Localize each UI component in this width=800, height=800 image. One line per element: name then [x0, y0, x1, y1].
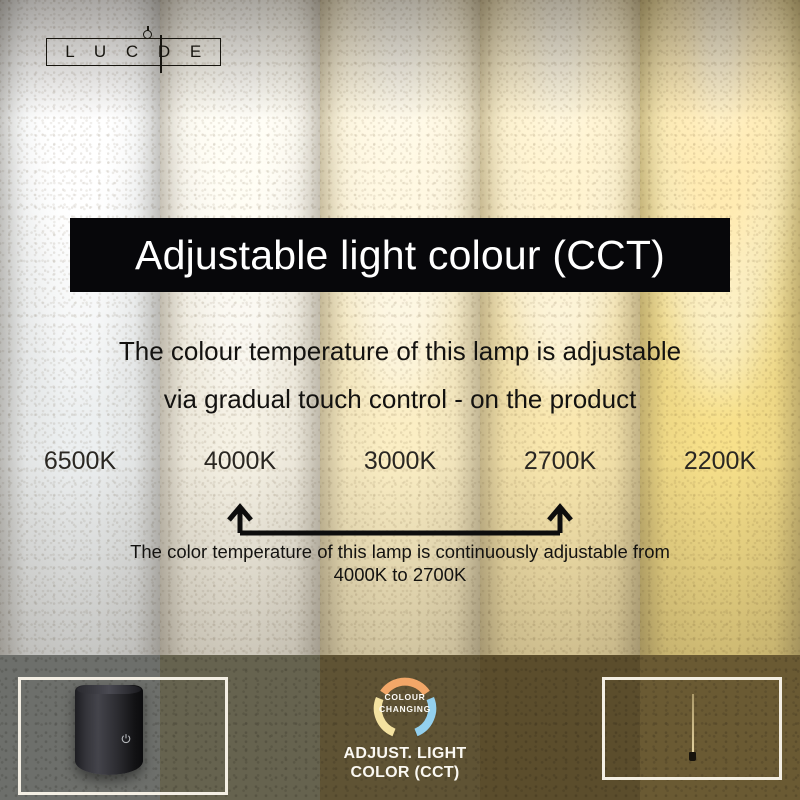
badge-caption-line-2: COLOR (CCT) — [300, 763, 510, 782]
adjustable-range-bracket — [0, 500, 800, 542]
power-button-icon — [120, 733, 132, 745]
page-title: Adjustable light colour (CCT) — [135, 232, 665, 279]
lucide-logo-text: L U C D E — [47, 39, 220, 65]
kelvin-label: 2700K — [480, 447, 640, 483]
badge-ring-label-line-2: CHANGING — [359, 704, 451, 716]
footnote-line-1: The color temperature of this lamp is co… — [0, 540, 800, 563]
badge-ring-label-line-1: COLOUR — [359, 692, 451, 704]
pendant-lamp-cord-icon — [692, 694, 694, 756]
range-footnote: The color temperature of this lamp is co… — [0, 540, 800, 586]
badge-caption-line-1: ADJUST. LIGHT — [300, 744, 510, 763]
lamp-top-rim — [77, 685, 141, 694]
kelvin-scale: 6500K 4000K 3000K 2700K 2200K — [0, 447, 800, 483]
kelvin-label: 2200K — [640, 447, 800, 483]
touch-lamp-product-image — [75, 685, 143, 775]
subtitle-line-1: The colour temperature of this lamp is a… — [0, 327, 800, 375]
kelvin-label: 4000K — [160, 447, 320, 483]
kelvin-label: 6500K — [0, 447, 160, 483]
badge-caption: ADJUST. LIGHT COLOR (CCT) — [300, 744, 510, 782]
pendant-lamp-head-icon — [689, 752, 696, 761]
footnote-line-2: 4000K to 2700K — [0, 563, 800, 586]
subtitle-line-2: via gradual touch control - on the produ… — [0, 375, 800, 423]
headline-band: Adjustable light colour (CCT) — [70, 218, 730, 292]
logo-pendant-bulb-icon — [143, 30, 152, 39]
logo-i-bar — [160, 35, 162, 73]
badge-ring-label: COLOUR CHANGING — [359, 692, 451, 715]
kelvin-label: 3000K — [320, 447, 480, 483]
subtitle: The colour temperature of this lamp is a… — [0, 327, 800, 423]
lucide-logo: L U C D E — [46, 38, 221, 66]
product-infographic: L U C D E Adjustable light colour (CCT) … — [0, 0, 800, 800]
